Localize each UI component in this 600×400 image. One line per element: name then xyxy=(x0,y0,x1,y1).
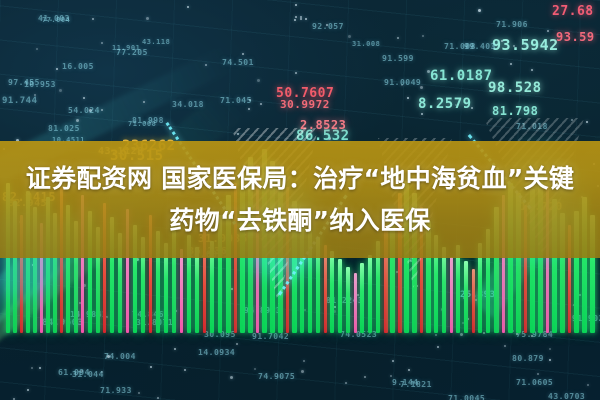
ticker-number-faint: 77.004 xyxy=(42,16,70,24)
ticker-number: 27.68 xyxy=(552,4,594,19)
ticker-number-faint: 54.024 xyxy=(68,106,100,115)
ticker-number: 61.0187 xyxy=(430,68,493,84)
ticker-number-faint: 92.057 xyxy=(312,22,344,31)
ticker-number: 98.528 xyxy=(488,80,542,96)
headline-line-1: 证券配资网 国家医保局：治疗“地中海贫血”关键 xyxy=(0,159,600,199)
ticker-number-faint: 43.118 xyxy=(142,38,170,46)
ticker-number-faint: 74.9075 xyxy=(258,372,295,381)
ticker-number: 30.9972 xyxy=(280,98,330,111)
ticker-number-faint: 10.953 xyxy=(24,80,56,89)
ticker-number-faint: 91.744 xyxy=(2,96,38,106)
ticker-number: 93.5942 xyxy=(492,36,559,54)
ticker-number-faint: 74.501 xyxy=(222,58,254,67)
headline-block: 证券配资网 国家医保局：治疗“地中海贫血”关键 药物“去铁酮”纳入医保 xyxy=(0,141,600,258)
ticker-number-faint: 91.599 xyxy=(382,54,414,63)
ticker-number-faint: 91.7042 xyxy=(252,332,289,341)
ticker-number: 8.2579 xyxy=(418,96,472,112)
ticker-number-faint: 14.0934 xyxy=(198,348,235,357)
ticker-number-faint: 71.0605 xyxy=(516,378,553,387)
ticker-number-faint: 43.0703 xyxy=(548,392,585,400)
ticker-number-faint: 9.144 xyxy=(392,378,419,387)
headline-line-2: 药物“去铁酮”纳入医保 xyxy=(0,201,600,241)
ticker-number-faint: 99.403 xyxy=(464,42,496,51)
ticker-number-faint: 74.004 xyxy=(104,352,136,361)
ticker-number: 93.59 xyxy=(556,30,595,44)
ticker-number-faint: 31.008 xyxy=(352,40,380,48)
ticker-number-faint: 16.005 xyxy=(62,62,94,71)
ticker-number-faint: 71.0045 xyxy=(448,394,485,400)
ticker-number-faint: 71.906 xyxy=(496,20,528,29)
ticker-number-faint: 34.018 xyxy=(172,100,204,109)
news-thumbnail-image: 93.594261.018798.5288.257981.79886.53250… xyxy=(0,0,600,400)
ticker-number-faint: 80.879 xyxy=(512,354,544,363)
ticker-number-faint: 91.0049 xyxy=(384,78,421,87)
ticker-number-faint: 71.045 xyxy=(220,96,252,105)
ticker-number-faint: 31.044 xyxy=(72,370,104,379)
ticker-number-faint: 71.933 xyxy=(100,386,132,395)
ticker-number-faint: 77.205 xyxy=(116,48,148,57)
ticker-number: 81.798 xyxy=(492,104,538,118)
